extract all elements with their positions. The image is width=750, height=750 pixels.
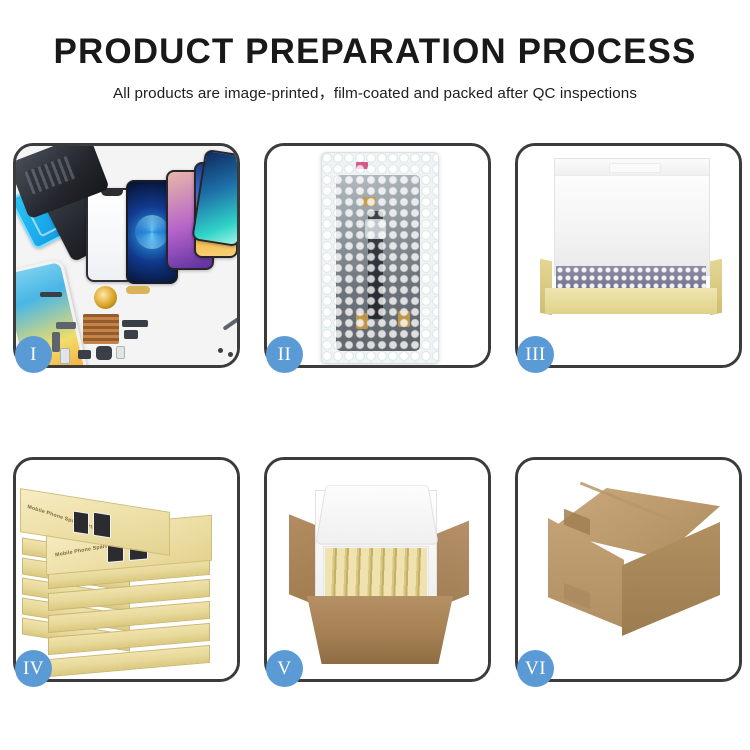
lid-tab-icon <box>609 163 661 173</box>
gold-contact-icon <box>356 313 368 329</box>
panel-2-image <box>267 146 488 365</box>
step-badge-2: II <box>266 336 303 373</box>
page-subtitle: All products are image-printed，film-coat… <box>0 81 750 103</box>
speaker-part-icon <box>78 350 91 359</box>
product-preparation-page: PRODUCT PREPARATION PROCESS All products… <box>0 0 750 750</box>
sim-tray-icon <box>60 348 70 364</box>
panel-3-image <box>518 146 739 365</box>
step-badge-3: III <box>517 336 554 373</box>
panel-1-image <box>16 146 237 365</box>
coil-part-icon <box>94 286 117 309</box>
step-badge-4: IV <box>15 650 52 687</box>
carton-body-icon <box>307 596 453 664</box>
page-header: PRODUCT PREPARATION PROCESS All products… <box>0 0 750 103</box>
process-step-panel-6[interactable]: VI <box>515 457 742 682</box>
connector-icon <box>365 219 386 239</box>
chip-grid-part-icon <box>83 314 119 344</box>
panel-6-image <box>518 460 739 679</box>
step-badge-6: VI <box>517 650 554 687</box>
connector-strip-icon <box>122 320 148 327</box>
gold-contact-icon <box>362 197 376 206</box>
box-phone-image <box>73 511 89 536</box>
page-title: PRODUCT PREPARATION PROCESS <box>0 34 750 69</box>
flex-cable-icon <box>52 332 60 352</box>
flex-cable-icon <box>56 322 76 329</box>
connector-icon <box>124 330 138 339</box>
screw-icon <box>228 352 233 357</box>
gold-boxes-stack-icon <box>325 548 427 600</box>
tray-front-icon <box>545 288 717 314</box>
qc-label-icon <box>356 162 368 169</box>
foam-lid-icon <box>315 485 438 545</box>
process-step-grid: I II <box>13 143 737 682</box>
box-spec-lines <box>121 513 163 546</box>
box-lid-icon <box>554 158 710 276</box>
process-step-panel-1[interactable]: I <box>13 143 240 368</box>
step-badge-5: V <box>266 650 303 687</box>
process-step-panel-3[interactable]: III <box>515 143 742 368</box>
gold-bracket-icon <box>126 286 150 294</box>
screwdriver-icon <box>222 317 237 331</box>
small-chip-icon <box>116 346 125 359</box>
step-badge-1: I <box>15 336 52 373</box>
panel-4-image: Mobile Phone Spare Parts Mobile Phone Sp… <box>16 460 237 679</box>
camera-module-icon <box>96 346 112 360</box>
process-step-panel-2[interactable]: II <box>264 143 491 368</box>
process-step-panel-5[interactable]: V <box>264 457 491 682</box>
process-step-panel-4[interactable]: Mobile Phone Spare Parts Mobile Phone Sp… <box>13 457 240 682</box>
gold-contact-icon <box>398 311 410 327</box>
screw-icon <box>218 348 223 353</box>
panel-5-image <box>267 460 488 679</box>
bubble-wrap-bag-icon <box>321 152 439 364</box>
small-part-icon <box>40 292 62 297</box>
box-phone-image <box>93 512 111 539</box>
